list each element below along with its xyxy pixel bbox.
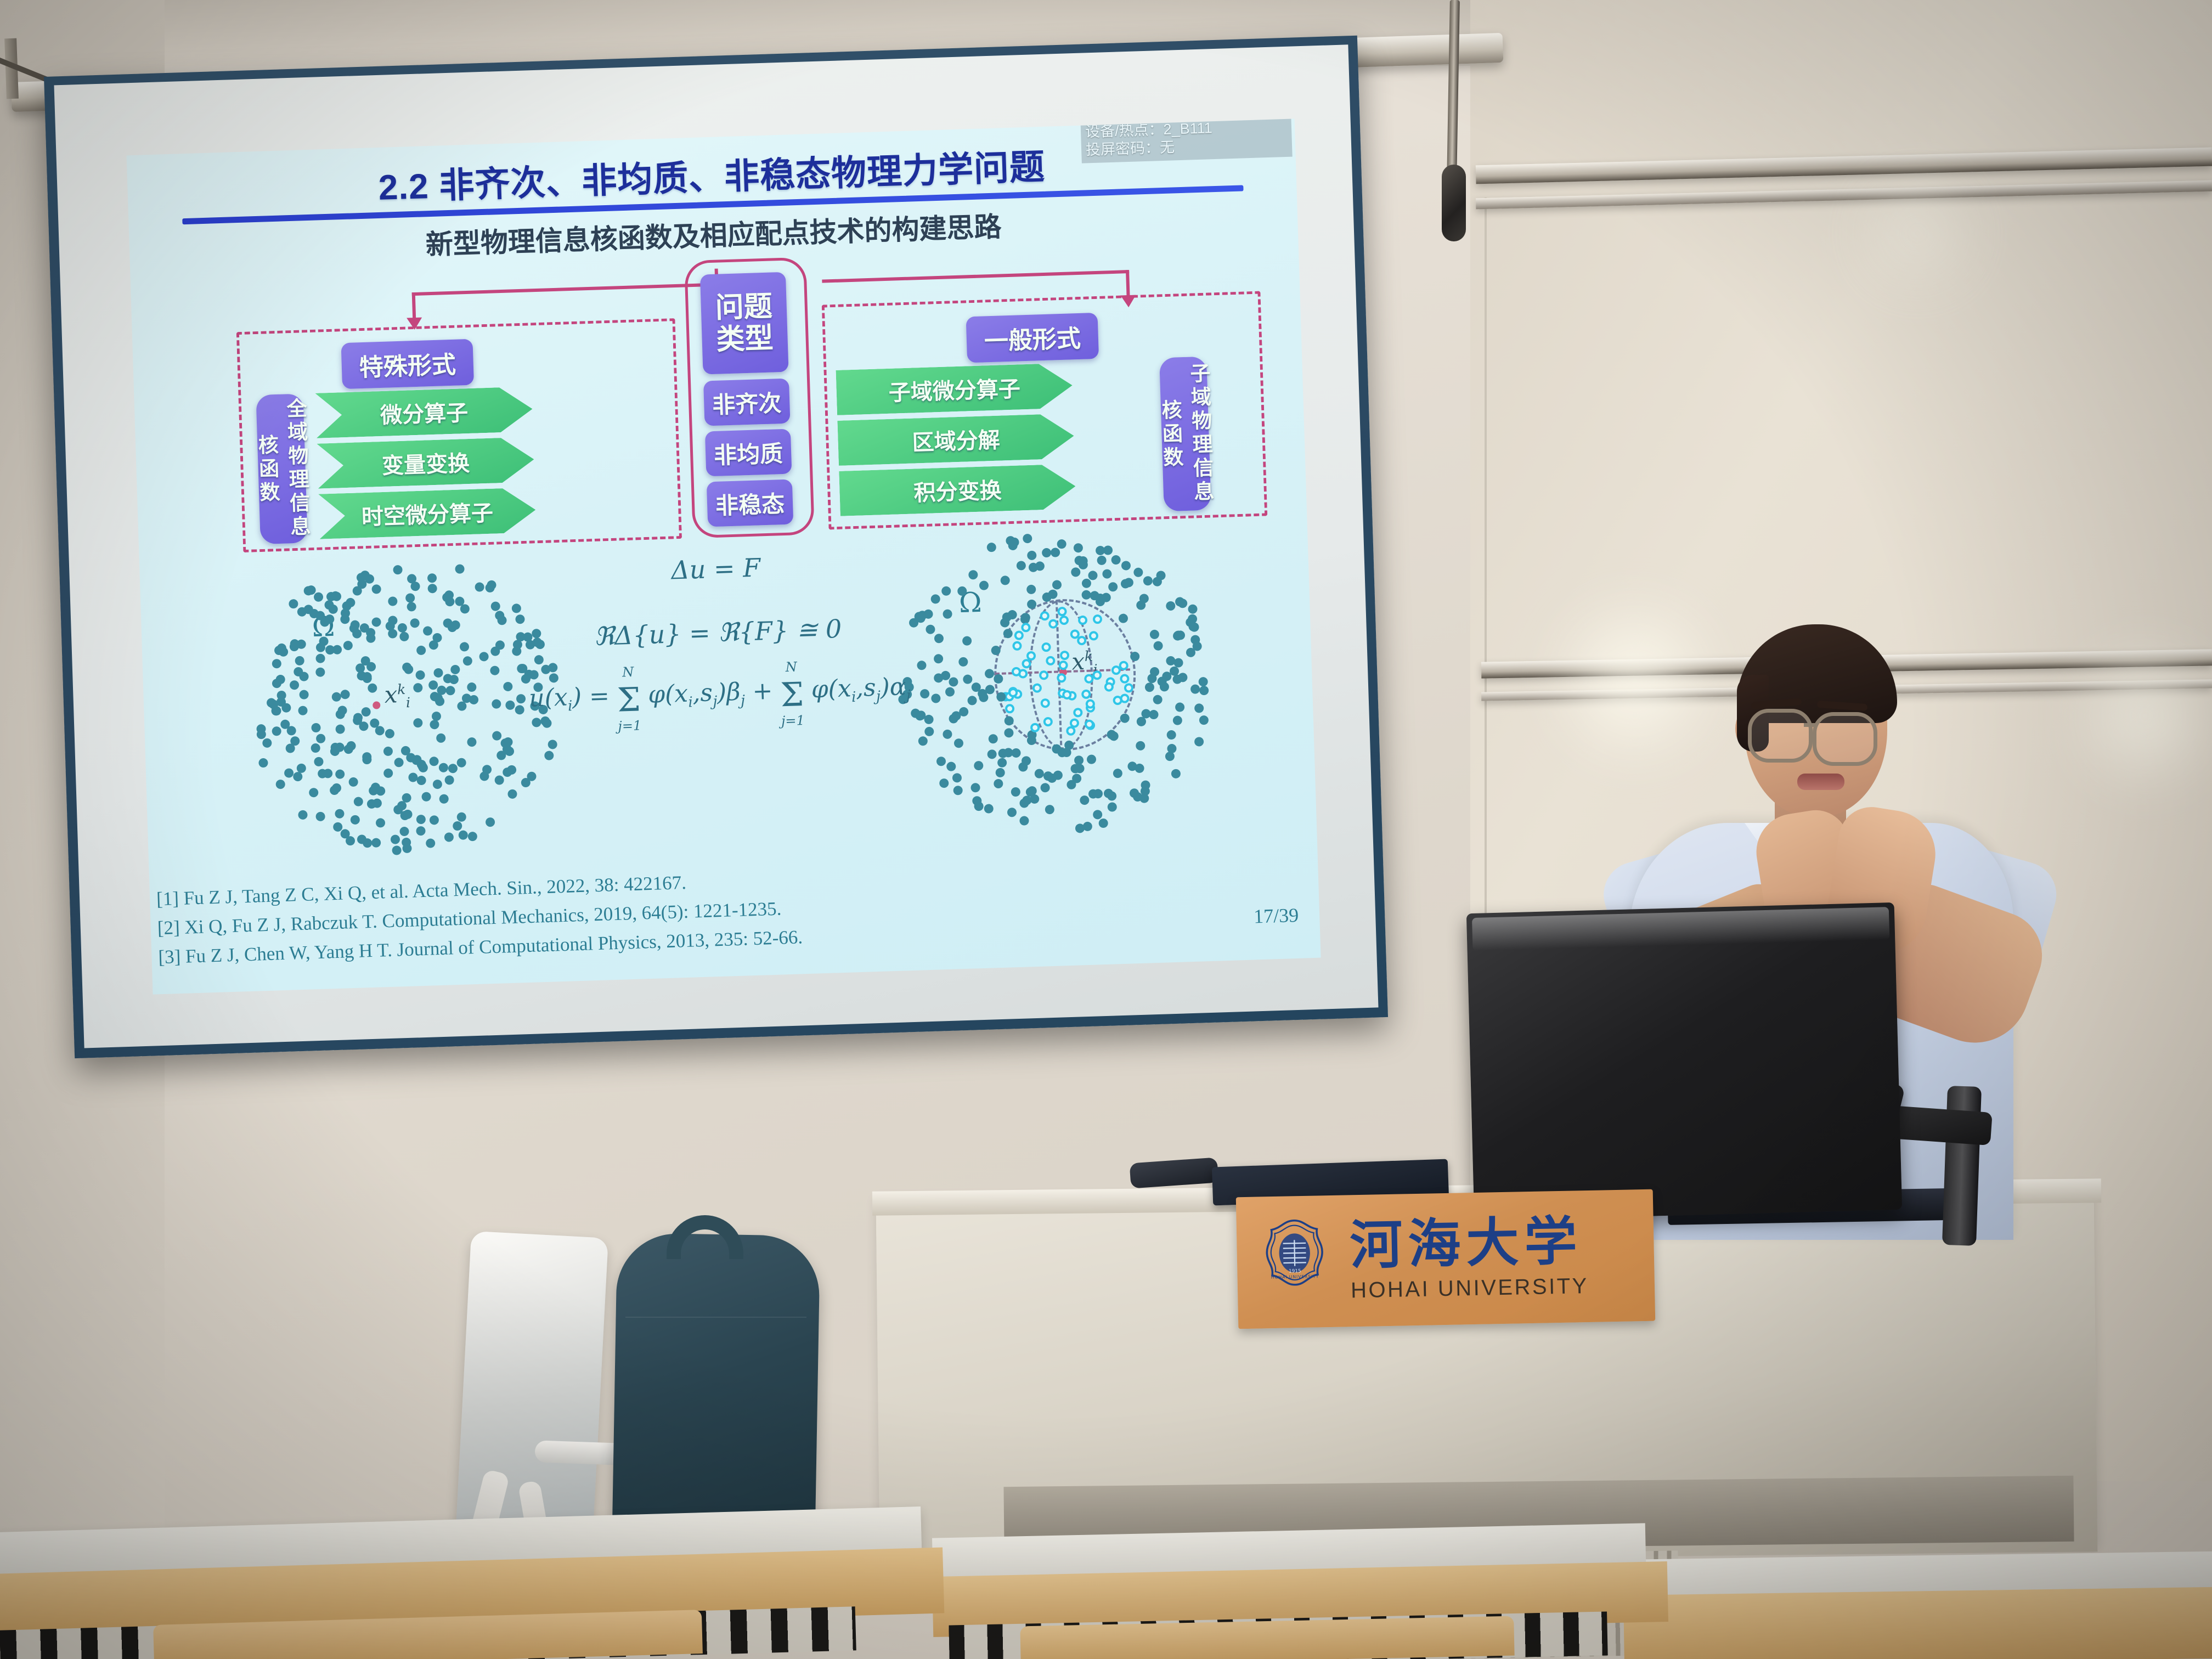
presentation-slide: 16:24:47 设备/热点：2_B111 投屏密码：无 2.2 非齐次、非均质…	[127, 119, 1321, 994]
plaque-english-name: HOHAI UNIVERSITY	[1351, 1274, 1589, 1303]
collocation-node	[451, 620, 461, 630]
collocation-node	[325, 645, 335, 655]
collocation-node	[1120, 713, 1130, 723]
collocation-node	[1113, 768, 1122, 778]
collocation-node	[392, 845, 402, 855]
support-node	[1085, 719, 1094, 729]
collocation-node	[398, 623, 408, 633]
formula-expansion: u(xi) = Σ N j=1 φ(xi,sj)βj + Σ N j=1 φ(x…	[527, 672, 912, 723]
collocation-point-left	[373, 701, 380, 709]
diagram-right-result[interactable]: 子域物理信息核函数	[1159, 357, 1211, 512]
diagram-right-branch-label[interactable]: 一般形式	[966, 313, 1099, 363]
diagram-left-method-0[interactable]: 微分算子	[315, 386, 533, 438]
collocation-node	[1007, 808, 1017, 817]
collocation-node	[391, 834, 400, 844]
collocation-node	[984, 669, 994, 679]
collocation-node	[521, 778, 531, 788]
collocation-node	[1071, 568, 1081, 578]
collocation-node	[463, 656, 473, 666]
collocation-node	[290, 736, 300, 746]
collocation-node	[984, 804, 994, 814]
plaque-chinese-name: 河海大学	[1350, 1215, 1589, 1272]
diagram-right-method-1[interactable]: 区域分解	[837, 413, 1074, 465]
collocation-node	[931, 694, 941, 704]
collocation-node	[371, 584, 381, 594]
collocation-node	[1012, 748, 1022, 758]
collocation-node	[953, 738, 963, 748]
collocation-node	[289, 680, 299, 690]
projection-screen: 16:24:47 设备/热点：2_B111 投屏密码：无 2.2 非齐次、非均质…	[44, 36, 1388, 1058]
collocation-node	[427, 573, 437, 583]
collocation-node	[444, 775, 454, 785]
collocation-node	[994, 779, 1003, 789]
collocation-node	[436, 733, 446, 743]
collocation-node	[475, 582, 484, 592]
collocation-node	[486, 817, 495, 827]
collocation-node	[918, 736, 928, 746]
collocation-node	[371, 617, 381, 627]
collocation-node	[490, 665, 500, 675]
collocation-node	[995, 768, 1005, 778]
summation-symbol-1: Σ N j=1	[617, 680, 641, 719]
collocation-node	[1027, 551, 1037, 561]
collocation-node	[1136, 717, 1146, 727]
collocation-node	[1057, 539, 1067, 549]
collocation-node	[1175, 702, 1185, 712]
collocation-node	[298, 810, 308, 820]
collocation-node	[311, 743, 320, 753]
collocation-node	[1004, 728, 1014, 738]
formula-governing-equation: Δu = F	[523, 548, 908, 590]
collocation-node	[1178, 673, 1188, 682]
collocation-node	[448, 763, 458, 773]
collocation-node	[439, 794, 449, 804]
collocation-node	[1078, 560, 1088, 570]
collocation-node	[1108, 803, 1118, 812]
diagram-left-result[interactable]: 全域物理信息核函数	[256, 393, 308, 544]
collocation-node	[405, 593, 415, 603]
collocation-node	[394, 758, 404, 768]
collocation-node	[272, 706, 282, 716]
collocation-node	[430, 720, 439, 730]
collocation-node	[428, 680, 438, 690]
collocation-node	[335, 724, 345, 734]
collocation-node	[1124, 578, 1133, 588]
collocation-node	[1075, 764, 1085, 774]
collocation-node	[416, 776, 426, 786]
collocation-node	[503, 682, 513, 692]
collocation-node	[275, 780, 285, 789]
collocation-node	[430, 815, 439, 825]
collocation-node	[462, 693, 472, 703]
collocation-node	[1029, 562, 1039, 572]
collocation-node	[376, 818, 386, 828]
collocation-node	[1080, 795, 1090, 805]
collocation-node	[272, 726, 281, 736]
support-node	[1086, 699, 1096, 709]
collocation-node	[951, 711, 961, 721]
monitor-plastic-wrap-sheen	[1472, 907, 1889, 951]
collocation-node	[548, 740, 557, 749]
collocation-node	[467, 737, 477, 747]
collocation-node	[328, 604, 338, 614]
collocation-node	[289, 599, 298, 609]
collocation-node	[272, 659, 281, 669]
collocation-node	[376, 786, 386, 796]
collocation-node	[492, 699, 501, 709]
diagram-right-method-0[interactable]: 子域微分算子	[836, 363, 1073, 415]
collocation-node	[319, 636, 329, 646]
collocation-node	[357, 579, 367, 589]
collocation-node	[393, 565, 403, 575]
collocation-node	[316, 734, 326, 744]
collocation-node	[435, 696, 445, 706]
backpack-handle	[667, 1215, 743, 1259]
collocation-node	[947, 762, 957, 772]
collocation-node	[1027, 786, 1037, 796]
collocation-node	[457, 812, 467, 822]
collocation-node	[445, 686, 455, 696]
collocation-node	[312, 723, 321, 733]
collocation-node	[485, 583, 495, 593]
collocation-node	[1026, 736, 1036, 746]
collocation-node	[1194, 703, 1204, 713]
diagram-center-node[interactable]: 问题 类型	[700, 272, 789, 375]
collocation-node	[1143, 576, 1153, 586]
collocation-node	[445, 597, 455, 607]
collocation-node	[1003, 629, 1013, 639]
backpack-seam	[625, 1317, 806, 1318]
collocation-node	[945, 687, 955, 697]
collocation-node	[343, 744, 353, 754]
collocation-node	[1017, 561, 1026, 571]
collocation-node	[962, 636, 972, 646]
collocation-node	[433, 668, 443, 678]
collocation-node	[1052, 580, 1062, 590]
collocation-node	[1149, 630, 1159, 640]
collocation-node	[936, 757, 946, 766]
collocation-node	[1006, 535, 1015, 545]
collocation-node	[1135, 764, 1145, 774]
collocation-node	[1073, 543, 1083, 553]
monitor[interactable]	[1466, 902, 1902, 1221]
collocation-node	[1147, 673, 1157, 683]
collocation-node	[443, 674, 453, 684]
collocation-node	[1088, 571, 1098, 580]
collocation-node	[1160, 682, 1170, 692]
collocation-node	[293, 772, 303, 782]
support-node	[1124, 683, 1133, 693]
collocation-node	[1099, 819, 1109, 828]
collocation-node	[490, 601, 500, 611]
collocation-node	[335, 770, 345, 780]
left-point-cloud: Ω xki	[241, 551, 557, 851]
collocation-node	[1188, 604, 1198, 614]
collocation-node	[1075, 823, 1085, 833]
collocation-node	[363, 838, 373, 848]
collocation-node	[368, 683, 377, 693]
collocation-node	[335, 709, 345, 719]
glasses-lens-left	[1748, 709, 1813, 763]
collocation-node	[284, 769, 294, 778]
support-node	[1077, 616, 1087, 625]
collocation-node	[943, 730, 953, 740]
collocation-node	[1173, 716, 1183, 726]
collocation-node	[366, 634, 376, 644]
collocation-node	[353, 797, 363, 807]
collocation-node	[431, 712, 441, 721]
collocation-node	[335, 809, 345, 819]
collocation-node	[1047, 774, 1057, 783]
collocation-node	[426, 838, 436, 848]
collocation-node	[1198, 677, 1208, 687]
collocation-node	[416, 645, 426, 655]
collocation-node	[1133, 568, 1143, 578]
diagram-left-method-1[interactable]: 变量变换	[317, 437, 534, 488]
university-plaque: 1915 HOHAI UNIVERSITY 河海大学 HOHAI UNIVERS…	[1236, 1189, 1655, 1329]
screen-surface: 16:24:47 设备/热点：2_B111 投屏密码：无 2.2 非齐次、非均质…	[54, 44, 1378, 1048]
collocation-node	[507, 789, 517, 799]
collocation-node	[979, 580, 989, 590]
collocation-node	[1000, 575, 1010, 585]
connector-right-drop	[1126, 270, 1130, 296]
collocation-node	[315, 811, 325, 821]
collocation-node	[363, 674, 373, 684]
support-node	[1012, 641, 1022, 651]
collocation-node	[949, 677, 958, 687]
student-bench	[1623, 1587, 2212, 1659]
collocation-node	[1042, 548, 1052, 558]
collocation-node	[1051, 548, 1060, 557]
collocation-node	[1097, 556, 1107, 566]
collocation-node	[450, 665, 460, 675]
collocation-node	[1199, 686, 1209, 696]
presenter-mouth	[1797, 774, 1844, 790]
collocation-node	[1040, 783, 1050, 793]
concept-diagram: 问题 类型 特殊形式 一般形式 全域物理信息核函数 子域物理信息核函数 微分算子…	[174, 247, 1263, 556]
collocation-node	[316, 653, 326, 663]
support-node	[1021, 623, 1031, 633]
collocation-node	[298, 706, 308, 715]
collocation-node	[1139, 793, 1149, 803]
collocation-node	[479, 652, 489, 662]
collocation-node	[1136, 741, 1145, 751]
desk-device	[1130, 1157, 1219, 1188]
slide-page-number: 17/39	[1253, 904, 1299, 928]
collocation-node	[1145, 682, 1155, 692]
collocation-node	[1101, 592, 1111, 602]
collocation-node	[1108, 582, 1118, 592]
collocation-node	[1190, 685, 1200, 695]
collocation-node	[429, 640, 439, 650]
collocation-node	[383, 747, 393, 757]
collocation-node	[917, 661, 927, 670]
collocation-node	[482, 765, 492, 775]
support-node	[1041, 642, 1051, 652]
collocation-node	[366, 799, 376, 809]
collocation-node	[498, 616, 507, 625]
collocation-node	[515, 705, 525, 715]
collocation-node	[429, 757, 439, 766]
collocation-node	[1136, 600, 1146, 610]
diagram-left-branch-label[interactable]: 特殊形式	[341, 339, 475, 389]
collocation-node	[314, 757, 324, 766]
collocation-node	[332, 592, 342, 602]
collocation-node	[348, 777, 358, 787]
collocation-node	[1045, 805, 1055, 815]
collocation-node	[952, 773, 962, 783]
collocation-node	[402, 793, 412, 803]
collocation-node	[342, 601, 352, 611]
collocation-node	[399, 632, 409, 642]
collocation-node	[408, 772, 418, 782]
diagram-middle-type-2[interactable]: 非稳态	[707, 479, 793, 527]
collocation-node	[1004, 716, 1014, 726]
collocation-node	[388, 596, 398, 606]
diagram-right-method-2[interactable]: 积分变换	[839, 464, 1076, 516]
collocation-node	[455, 565, 465, 574]
reference-list: [1] Fu Z J, Tang Z C, Xi Q, et al. Acta …	[156, 855, 1091, 972]
collocation-node	[309, 788, 319, 798]
collocation-node	[402, 662, 411, 672]
connector-left-drop	[412, 292, 416, 319]
summation-symbol-2: Σ N j=1	[780, 675, 805, 714]
collocation-node	[1093, 810, 1103, 820]
diagram-middle-type-0[interactable]: 非齐次	[703, 379, 790, 426]
collocation-node	[1103, 546, 1113, 556]
collocation-node	[934, 673, 944, 683]
collocation-node	[410, 618, 420, 628]
right-point-cloud: Ω xki	[893, 522, 1215, 831]
collocation-node	[997, 758, 1007, 768]
point-label-left: xki	[384, 681, 411, 712]
collocation-node	[331, 692, 341, 702]
collocation-node	[941, 586, 951, 596]
collocation-node	[1020, 816, 1030, 826]
collocation-node	[544, 751, 554, 760]
diagram-left-method-2[interactable]: 时空微分算子	[318, 487, 536, 539]
svg-text:1915: 1915	[1289, 1268, 1301, 1274]
collocation-node	[495, 775, 505, 785]
collocation-node	[492, 731, 502, 741]
collocation-node	[459, 642, 469, 652]
support-node	[1058, 661, 1068, 670]
collocation-node	[402, 837, 411, 847]
collocation-node	[416, 815, 426, 825]
collocation-node	[985, 685, 995, 695]
collocation-node	[953, 786, 963, 795]
collocation-node	[987, 749, 997, 759]
collocation-node	[457, 758, 467, 768]
collocation-node	[986, 543, 996, 552]
collocation-node	[400, 811, 410, 821]
collocation-node	[1087, 755, 1097, 765]
collocation-node	[1107, 791, 1117, 801]
collocation-node	[467, 832, 477, 842]
collocation-node	[1199, 715, 1209, 725]
collocation-node	[346, 836, 356, 846]
university-seal-icon: 1915 HOHAI UNIVERSITY	[1253, 1217, 1337, 1307]
diagram-middle-type-1[interactable]: 非均质	[705, 429, 792, 477]
collocation-node	[1035, 769, 1045, 779]
collocation-node	[991, 645, 1001, 655]
collocation-node	[444, 833, 454, 843]
collocation-node	[353, 715, 363, 725]
connector-right-horizontal	[822, 270, 1129, 283]
collocation-node	[943, 610, 952, 619]
collocation-node	[1082, 590, 1092, 600]
collocation-node	[423, 626, 433, 636]
collocation-node	[330, 747, 340, 757]
collocation-node	[1011, 787, 1021, 797]
collocation-node	[1166, 601, 1176, 611]
collocation-node	[1007, 610, 1017, 620]
collocation-node	[1111, 555, 1121, 565]
collocation-node	[371, 838, 381, 848]
svg-text:HOHAI UNIVERSITY: HOHAI UNIVERSITY	[1271, 1274, 1319, 1280]
formula-block: Δu = F ℜΔ{u} = ℜ{F} ≅ 0 u(xi) = Σ N j=1 …	[523, 548, 912, 723]
collocation-node	[413, 683, 423, 693]
screen-pull-knob[interactable]	[1442, 165, 1466, 241]
collocation-node	[516, 694, 526, 704]
collocation-node	[295, 656, 305, 666]
collocation-node	[505, 701, 515, 710]
lecture-room-photo: apollo 16:24:47 设备/热点：2_B111 投屏密码：无 2.2 …	[0, 0, 2212, 1659]
collocation-node	[989, 734, 998, 744]
collocation-node	[427, 584, 437, 594]
collocation-node	[920, 689, 930, 698]
collocation-node	[1189, 622, 1199, 632]
collocation-node	[1165, 752, 1175, 761]
collocation-node	[300, 690, 309, 699]
collocation-node	[924, 727, 934, 737]
collocation-node	[1152, 577, 1162, 587]
collocation-node	[926, 624, 935, 634]
collocation-node	[1026, 585, 1036, 595]
collocation-node	[416, 826, 426, 836]
collocation-node	[366, 662, 376, 672]
formula-residual: ℜΔ{u} = ℜ{F} ≅ 0	[526, 612, 910, 653]
collocation-node	[934, 654, 944, 664]
collocation-node	[340, 690, 350, 700]
collocation-node	[1018, 762, 1028, 772]
collocation-node	[343, 641, 353, 651]
collocation-node	[407, 602, 416, 612]
collocation-node	[1194, 737, 1204, 747]
collocation-node	[315, 611, 325, 620]
collocation-node	[515, 614, 525, 624]
collocation-node	[413, 718, 423, 727]
collocation-node	[385, 729, 395, 739]
support-node	[1070, 629, 1080, 639]
collocation-node	[263, 738, 273, 748]
collocation-node	[934, 634, 944, 644]
projector-clock: 16:24:47	[1084, 119, 1158, 123]
collocation-node	[974, 761, 984, 771]
collocation-node	[512, 603, 522, 613]
plaque-text-block: 河海大学 HOHAI UNIVERSITY	[1350, 1215, 1589, 1303]
support-node	[1040, 611, 1049, 621]
collocation-node	[315, 667, 325, 677]
collocation-node	[1171, 769, 1181, 778]
collocation-node	[1121, 561, 1131, 571]
connector-left-horizontal	[412, 283, 719, 296]
collocation-node	[383, 769, 393, 778]
collocation-node	[415, 670, 425, 680]
collocation-node	[1102, 569, 1112, 579]
collocation-node	[313, 592, 323, 602]
collocation-node	[970, 783, 980, 793]
